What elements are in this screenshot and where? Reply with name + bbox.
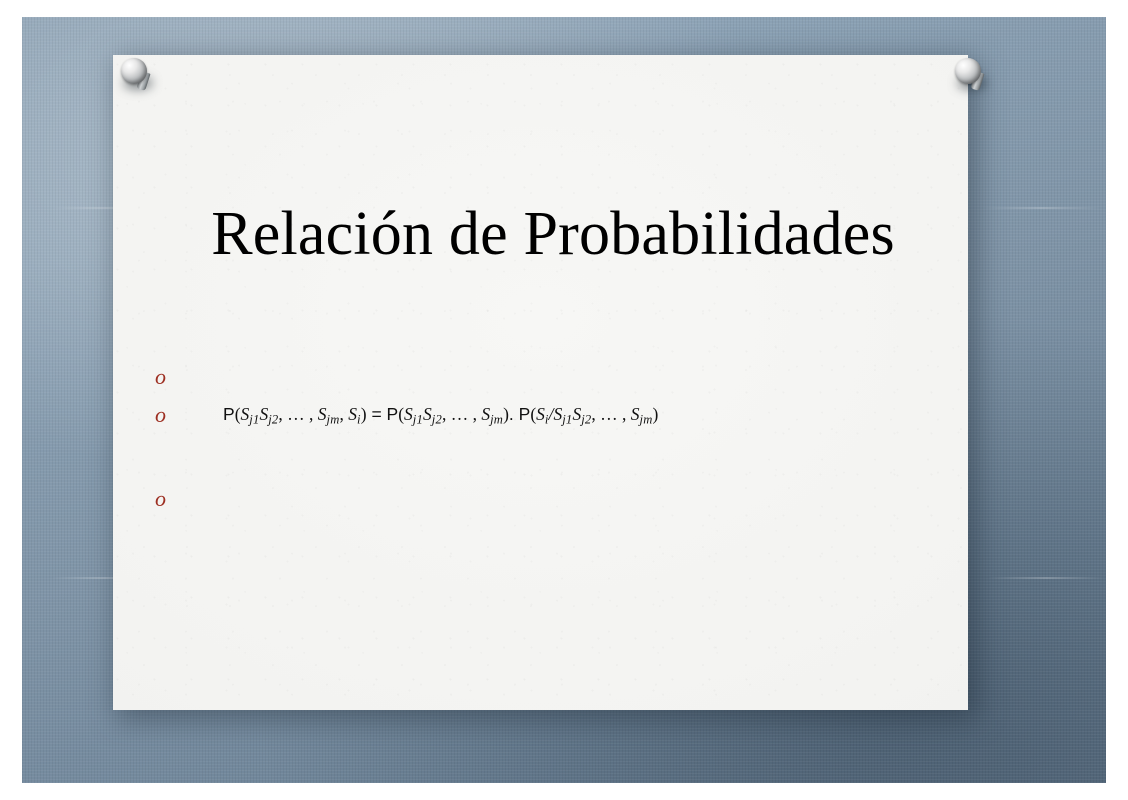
- list-item: o: [149, 487, 949, 525]
- bullet-marker-icon: o: [149, 487, 185, 511]
- pushpin-icon: [951, 56, 991, 96]
- slide-frame: Relación de Probabilidades o o P(Sj1Sj2,…: [0, 0, 1128, 800]
- pushpin-head: [955, 58, 981, 84]
- page-title: Relación de Probabilidades: [173, 200, 933, 268]
- list-item: o: [149, 365, 949, 403]
- formula-text: P(Sj1Sj2, … , Sjm, Si) = P(Sj1Sj2, … , S…: [185, 403, 949, 429]
- bullet-marker-icon: o: [149, 403, 185, 427]
- bullet-marker-icon: o: [149, 365, 185, 389]
- bullet-list: o o P(Sj1Sj2, … , Sjm, Si) = P(Sj1Sj2, ……: [149, 365, 949, 525]
- pushpin-head: [121, 58, 147, 84]
- formula-rendered: P(Sj1Sj2, … , Sjm, Si) = P(Sj1Sj2, … , S…: [223, 404, 658, 424]
- board-seam-bottom-right: [987, 577, 1105, 579]
- board-seam-top-right: [982, 207, 1102, 209]
- pushpin-icon: [117, 56, 157, 96]
- list-item: o P(Sj1Sj2, … , Sjm, Si) = P(Sj1Sj2, … ,…: [149, 403, 949, 487]
- paper-sheet: Relación de Probabilidades o o P(Sj1Sj2,…: [113, 55, 968, 710]
